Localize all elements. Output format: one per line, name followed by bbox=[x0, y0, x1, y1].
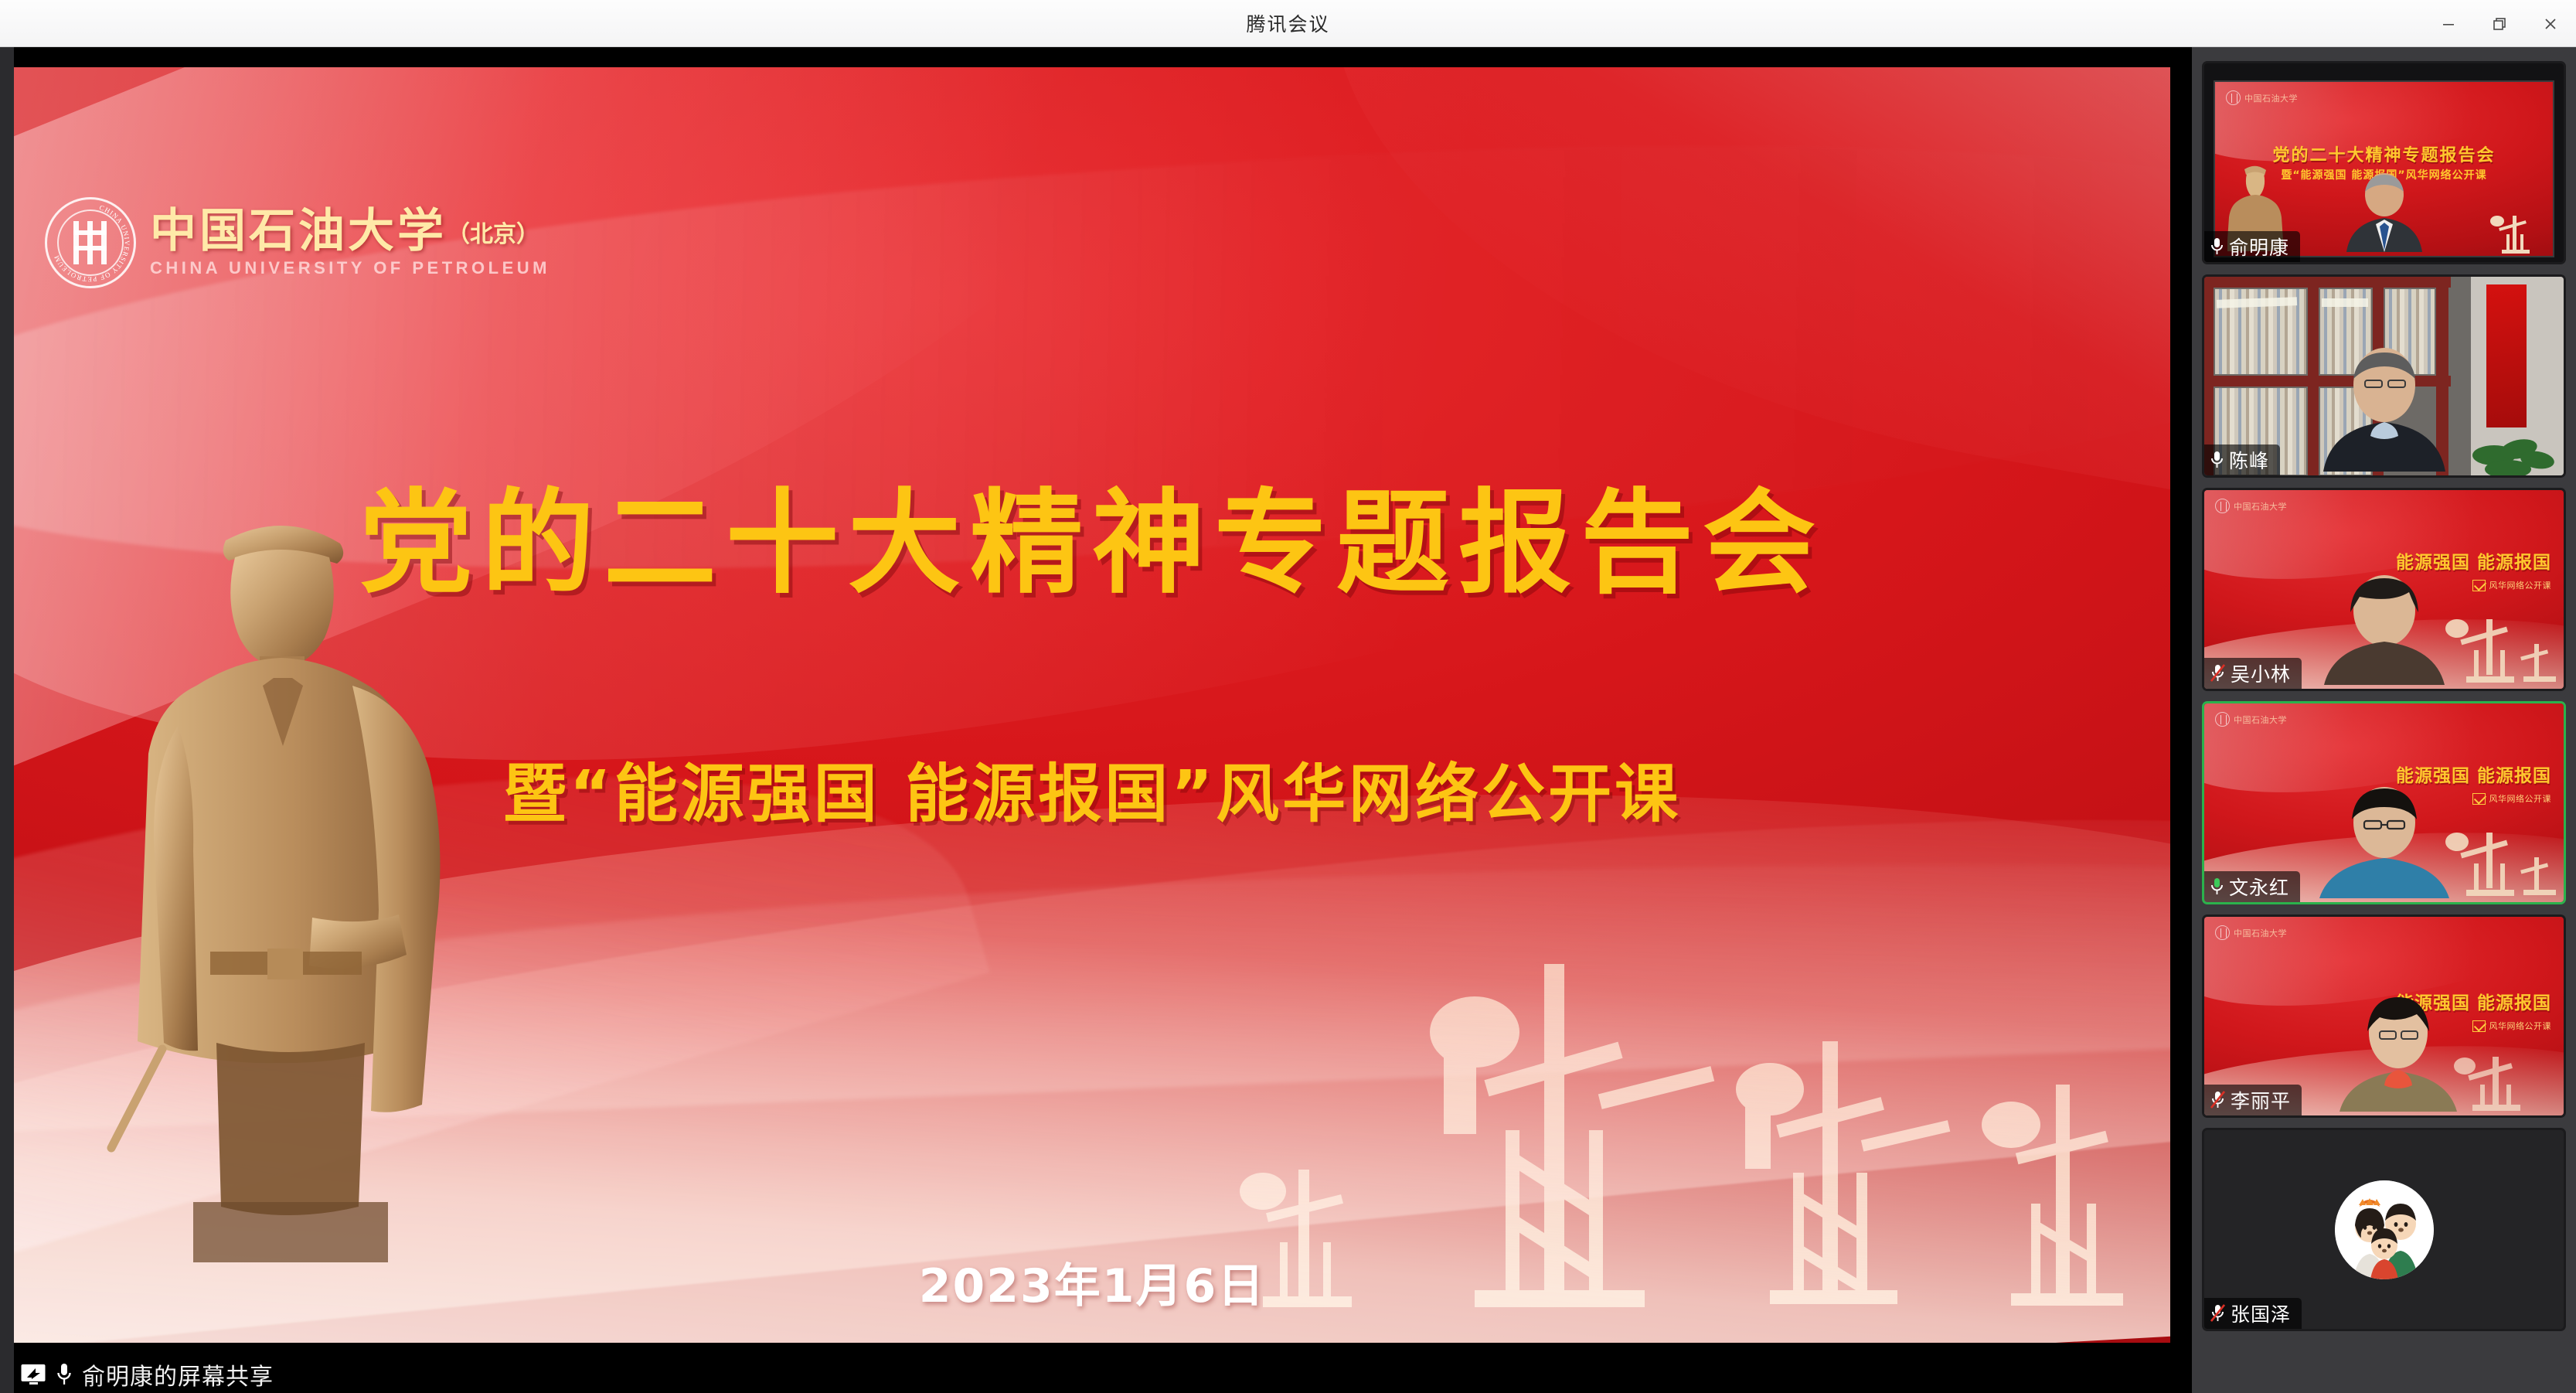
participant-tile[interactable]: 中国石油大学 能源强国 能源报国 风华网络公开课 bbox=[2202, 488, 2566, 691]
participant-tile[interactable]: 陈峰 bbox=[2202, 274, 2566, 478]
mini-seal-icon bbox=[2226, 90, 2241, 105]
tile-pumpjack-graphic bbox=[2482, 203, 2548, 256]
participant-name-badge: 陈峰 bbox=[2204, 444, 2280, 475]
family-cartoon-avatar-icon bbox=[2335, 1180, 2434, 1279]
participant-name-badge: 李丽平 bbox=[2204, 1085, 2302, 1115]
screen-share-owner-label: 俞明康的屏幕共享 bbox=[82, 1357, 274, 1391]
window-title-bar: 腾讯会议 bbox=[0, 0, 2576, 47]
close-button[interactable] bbox=[2525, 0, 2576, 47]
participant-tile-active-speaker[interactable]: 中国石油大学 能源强国 能源报国 风华网络公开课 bbox=[2202, 701, 2566, 904]
participant-name-badge: 吴小林 bbox=[2204, 658, 2302, 689]
meeting-body: CHINA UNIVERSITY OF PETROLEUM 中国石油大学（北京）… bbox=[0, 47, 2576, 1393]
check-icon bbox=[2472, 793, 2486, 805]
seal-monogram-icon bbox=[70, 221, 111, 264]
restore-icon bbox=[2491, 15, 2508, 32]
minimize-button[interactable] bbox=[2423, 0, 2474, 47]
mini-university-name: 中国石油大学 bbox=[2234, 500, 2287, 513]
tile-slogan-sub: 风华网络公开课 bbox=[2489, 792, 2552, 805]
screen-share-status-bar: 俞明康的屏幕共享 bbox=[14, 1356, 2192, 1393]
slide-subtitle: 暨“能源强国 能源报国”风华网络公开课 bbox=[14, 742, 2170, 834]
tile-person-graphic bbox=[2320, 342, 2448, 472]
check-icon bbox=[2472, 580, 2486, 591]
participant-name: 陈峰 bbox=[2229, 446, 2269, 474]
tile-slogan-sub: 风华网络公开课 bbox=[2489, 579, 2552, 591]
microphone-icon bbox=[2210, 877, 2224, 896]
tile-person-graphic bbox=[2339, 172, 2430, 252]
participant-tile[interactable]: 中国石油大学 能源强国 能源报国 风华网络公开课 bbox=[2202, 914, 2566, 1118]
mini-university-name: 中国石油大学 bbox=[2234, 927, 2287, 939]
participant-name: 李丽平 bbox=[2231, 1086, 2291, 1114]
university-seal-icon: CHINA UNIVERSITY OF PETROLEUM bbox=[45, 197, 136, 288]
participant-name-badge: 文永红 bbox=[2204, 871, 2300, 902]
plant-graphic bbox=[2471, 415, 2556, 475]
participant-name-badge: 张国泽 bbox=[2204, 1298, 2302, 1329]
participant-name: 张国泽 bbox=[2231, 1299, 2291, 1327]
mini-university-name: 中国石油大学 bbox=[2244, 92, 2298, 104]
mini-seal-icon bbox=[2215, 712, 2230, 727]
mini-seal-icon bbox=[2215, 499, 2230, 513]
participant-name: 文永红 bbox=[2229, 873, 2289, 901]
university-name-en: CHINA UNIVERSITY OF PETROLEUM bbox=[150, 258, 550, 278]
microphone-muted-icon bbox=[2210, 1304, 2225, 1323]
participant-filmstrip[interactable]: 中国石油大学 党的二十大精神专题报告会 暨“能源强国 能源报国”风华网络公开课 bbox=[2192, 47, 2576, 1393]
close-icon bbox=[2542, 15, 2559, 32]
microphone-muted-icon bbox=[2210, 664, 2225, 683]
slide-date: 2023年1月6日 bbox=[14, 1248, 2170, 1316]
shared-screen-stage[interactable]: CHINA UNIVERSITY OF PETROLEUM 中国石油大学（北京）… bbox=[14, 47, 2192, 1393]
left-rail bbox=[0, 47, 14, 1393]
participant-tile[interactable]: 中国石油大学 党的二十大精神专题报告会 暨“能源强国 能源报国”风华网络公开课 bbox=[2202, 61, 2566, 264]
microphone-icon bbox=[56, 1362, 73, 1387]
slide-main-title: 党的二十大精神专题报告会 bbox=[14, 452, 2170, 615]
avatar bbox=[2335, 1180, 2434, 1279]
window-controls bbox=[2423, 0, 2576, 47]
microphone-icon bbox=[2210, 451, 2224, 469]
microphone-muted-icon bbox=[2210, 1091, 2225, 1109]
window-title: 腾讯会议 bbox=[1246, 9, 1329, 37]
participant-name-badge: 俞明康 bbox=[2204, 231, 2300, 262]
mini-university-name: 中国石油大学 bbox=[2234, 714, 2287, 726]
tile-person-graphic bbox=[2318, 569, 2451, 685]
university-logo: CHINA UNIVERSITY OF PETROLEUM 中国石油大学（北京）… bbox=[45, 197, 550, 288]
university-name-cn: 中国石油大学（北京） bbox=[150, 207, 550, 256]
tile-person-graphic bbox=[2330, 988, 2466, 1112]
mini-seal-icon bbox=[2215, 925, 2230, 940]
microphone-icon bbox=[2210, 237, 2224, 256]
presentation-slide: CHINA UNIVERSITY OF PETROLEUM 中国石油大学（北京）… bbox=[14, 67, 2170, 1343]
participant-tile[interactable]: 张国泽 bbox=[2202, 1128, 2566, 1331]
restore-button[interactable] bbox=[2474, 0, 2525, 47]
participant-name: 俞明康 bbox=[2229, 233, 2289, 261]
participant-name: 吴小林 bbox=[2231, 659, 2291, 687]
screen-share-icon bbox=[20, 1363, 46, 1386]
tile-person-graphic bbox=[2316, 782, 2452, 898]
minimize-icon bbox=[2440, 15, 2457, 32]
